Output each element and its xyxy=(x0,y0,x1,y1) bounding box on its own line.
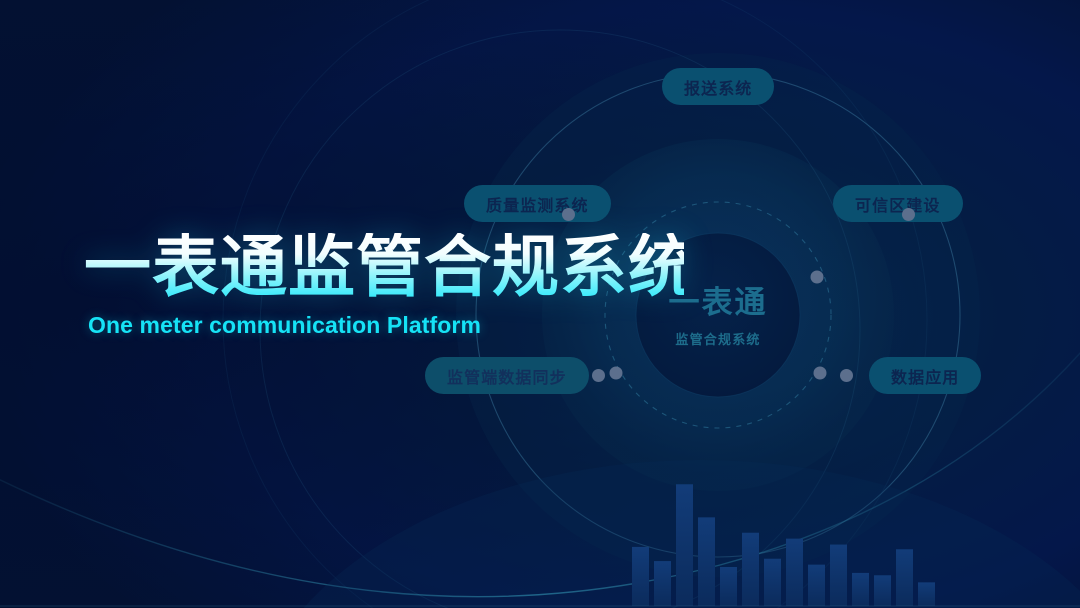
pill-dot-trustzone xyxy=(902,208,915,221)
node-baosong[interactable]: 报送系统 xyxy=(662,68,774,105)
pill-dot-apply xyxy=(840,369,853,382)
page-title: 一表通监管合规系统 xyxy=(84,233,684,303)
slide-root: 一表通监管合规系统 One meter communication Platfo… xyxy=(0,0,1080,608)
node-tongbu[interactable]: 监管端数据同步 xyxy=(425,357,589,394)
pill-dot-quality xyxy=(562,208,575,221)
node-kexinqu[interactable]: 可信区建设 xyxy=(833,185,963,222)
node-zhiliang[interactable]: 质量监测系统 xyxy=(464,185,611,222)
page-subtitle: One meter communication Platform xyxy=(88,312,684,339)
bottom-dome xyxy=(240,460,1080,608)
title-block: 一表通监管合规系统 One meter communication Platfo… xyxy=(84,233,684,339)
connector-dot-right-lower xyxy=(814,367,827,380)
connector-dot-left-lower xyxy=(610,367,623,380)
connector-dot-right-upper xyxy=(811,271,824,284)
pill-dot-sync xyxy=(592,369,605,382)
node-shuju[interactable]: 数据应用 xyxy=(869,357,981,394)
